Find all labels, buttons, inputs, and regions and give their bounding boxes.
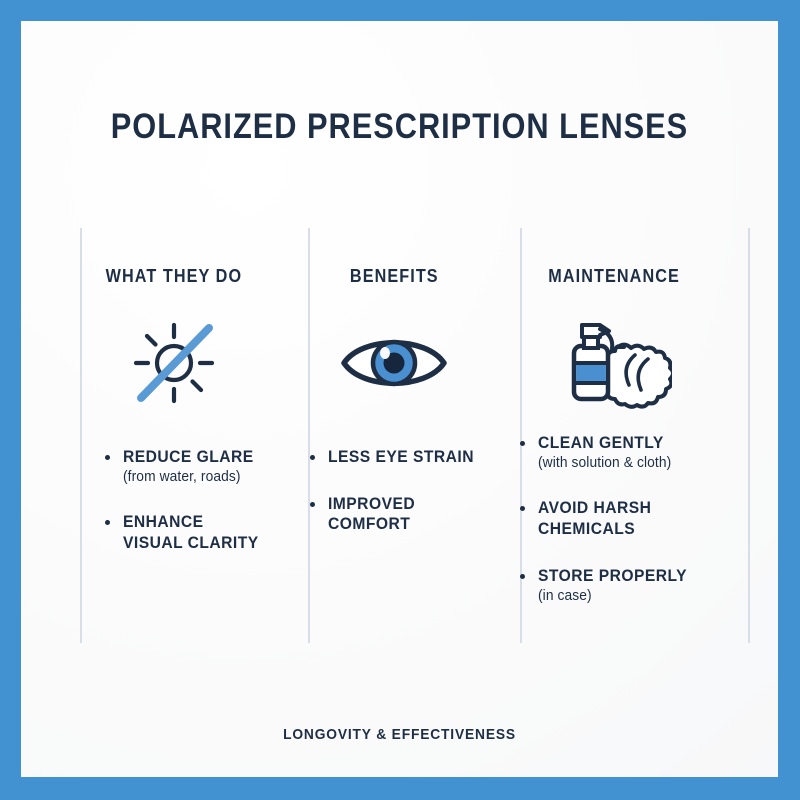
bullet-dot-icon — [310, 502, 315, 507]
bullet-main-text: STORE PROPERLY — [538, 566, 713, 587]
spray-bottle-and-cloth-icon — [556, 311, 672, 415]
list-item: AVOID HARSH CHEMICALS — [520, 498, 728, 539]
list-item: LESS EYE STRAIN — [310, 447, 500, 468]
list-item: IMPROVED COMFORT — [310, 494, 500, 535]
list-item: ENHANCE VISUAL CLARITY — [105, 512, 288, 553]
infographic-poster: POLARIZED PRESCRIPTION LENSES WHAT THEY … — [0, 0, 800, 800]
bullet-main-text: ENHANCE VISUAL CLARITY — [123, 512, 275, 553]
columns-container: WHAT THEY DO — [60, 228, 768, 643]
column-divider-right — [748, 228, 750, 643]
eye-icon — [338, 311, 450, 415]
bullet-main-text: AVOID HARSH CHEMICALS — [538, 498, 713, 539]
bullet-main-text: REDUCE GLARE — [123, 447, 275, 468]
bullet-dot-icon — [310, 455, 315, 460]
bullet-dot-icon — [520, 506, 525, 511]
list-item: REDUCE GLARE (from water, roads) — [105, 447, 288, 486]
bullet-main-text: CLEAN GENTLY — [538, 433, 713, 454]
column-heading: MAINTENANCE — [548, 266, 680, 287]
bullet-list: LESS EYE STRAIN IMPROVED COMFORT — [288, 447, 500, 535]
column-heading: BENEFITS — [350, 266, 439, 287]
bullet-main-text: LESS EYE STRAIN — [328, 447, 486, 468]
footer-caption: LONGOVITY & EFFECTIVENESS — [51, 726, 747, 743]
bullet-dot-icon — [105, 455, 110, 460]
list-item: CLEAN GENTLY (with solution & cloth) — [520, 433, 728, 472]
column-benefits: BENEFITS LESS EYE STRAIN — [288, 228, 500, 643]
bullet-dot-icon — [105, 520, 110, 525]
column-heading: WHAT THEY DO — [106, 266, 243, 287]
sun-with-slash-icon — [124, 311, 224, 415]
bullet-dot-icon — [520, 441, 525, 446]
bullet-sub-text: (in case) — [538, 587, 713, 606]
list-item: STORE PROPERLY (in case) — [520, 566, 728, 605]
poster-card: POLARIZED PRESCRIPTION LENSES WHAT THEY … — [21, 21, 778, 777]
column-maintenance: MAINTENANCE — [500, 228, 728, 643]
bullet-list: REDUCE GLARE (from water, roads) ENHANCE… — [60, 447, 288, 554]
page-title: POLARIZED PRESCRIPTION LENSES — [66, 107, 732, 147]
bullet-sub-text: (with solution & cloth) — [538, 454, 713, 473]
bullet-dot-icon — [520, 574, 525, 579]
column-what-they-do: WHAT THEY DO — [60, 228, 288, 643]
bullet-main-text: IMPROVED COMFORT — [328, 494, 486, 535]
bullet-sub-text: (from water, roads) — [123, 468, 275, 487]
bullet-list: CLEAN GENTLY (with solution & cloth) AVO… — [500, 433, 728, 605]
